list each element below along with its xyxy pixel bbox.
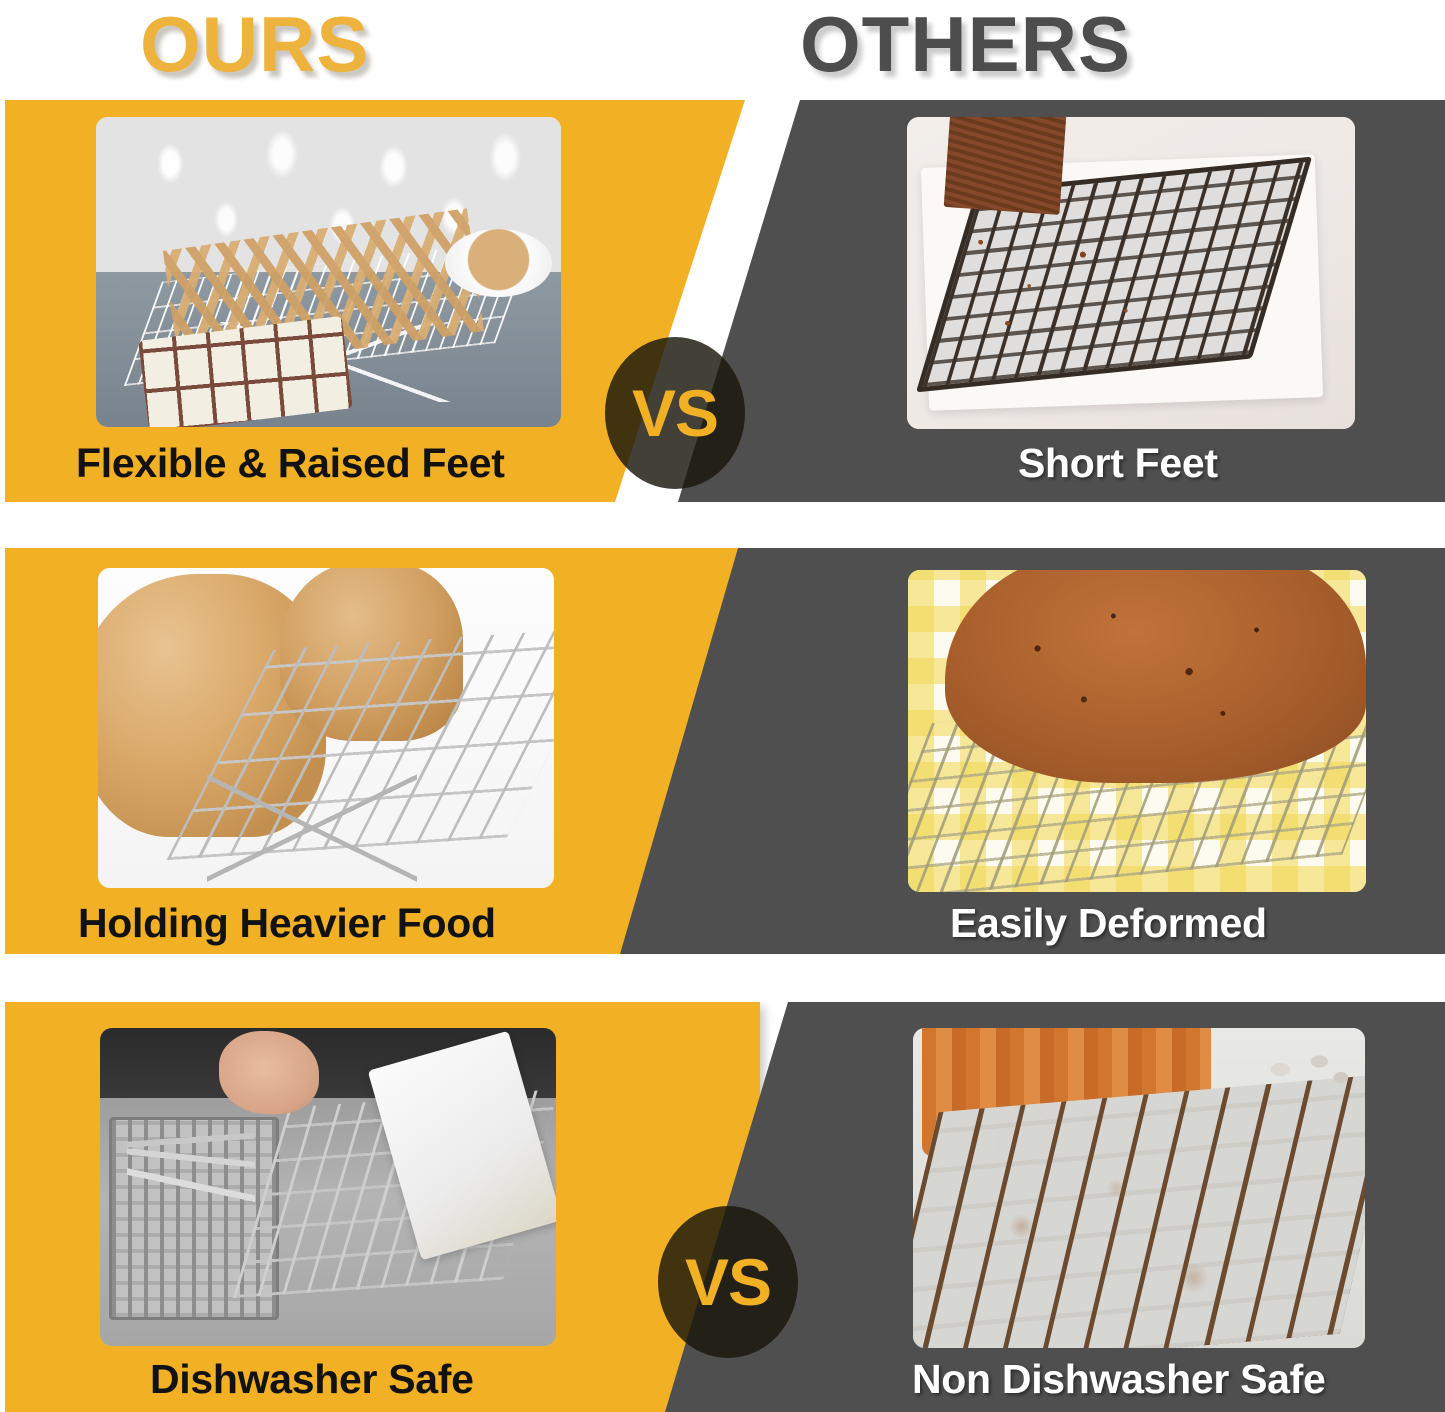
hand <box>219 1031 319 1114</box>
ours-caption-3: Dishwasher Safe <box>150 1354 474 1404</box>
header-title-ours: OURS <box>140 0 369 92</box>
others-photo-3 <box>913 1028 1365 1348</box>
comparison-row-1: Flexible & Raised Feet Short Feet VS <box>0 100 1445 502</box>
fruit-loaf <box>945 570 1366 783</box>
vs-label: VS <box>685 1249 771 1315</box>
cookie-plate <box>445 229 552 297</box>
comparison-infographic: OURS OTHERS Flexible <box>0 0 1445 1412</box>
others-photo-2 <box>908 570 1366 892</box>
others-caption-1: Short Feet <box>1018 438 1218 488</box>
header: OURS OTHERS <box>0 0 1445 96</box>
others-caption-3: Non Dishwasher Safe <box>912 1354 1326 1404</box>
ours-photo-1 <box>96 117 561 427</box>
ours-caption-2: Holding Heavier Food <box>78 898 496 948</box>
ours-photo-3 <box>100 1028 556 1346</box>
crumbs <box>943 211 1212 367</box>
others-caption-2: Easily Deformed <box>950 898 1267 948</box>
comparison-row-2: Holding Heavier Food Easily Deformed VS <box>0 548 1445 954</box>
vs-badge-1: VS <box>605 337 745 489</box>
ours-caption-1: Flexible & Raised Feet <box>76 438 505 488</box>
background-stones <box>1248 1041 1356 1099</box>
header-title-others: OTHERS <box>800 0 1131 92</box>
others-photo-1 <box>907 117 1355 429</box>
cutlery <box>127 1085 255 1225</box>
brownie-slab <box>944 117 1067 215</box>
vs-badge-2: VS <box>658 1206 798 1358</box>
ours-photo-2 <box>98 568 554 888</box>
vs-label: VS <box>632 380 718 446</box>
rack-feet <box>207 773 417 882</box>
